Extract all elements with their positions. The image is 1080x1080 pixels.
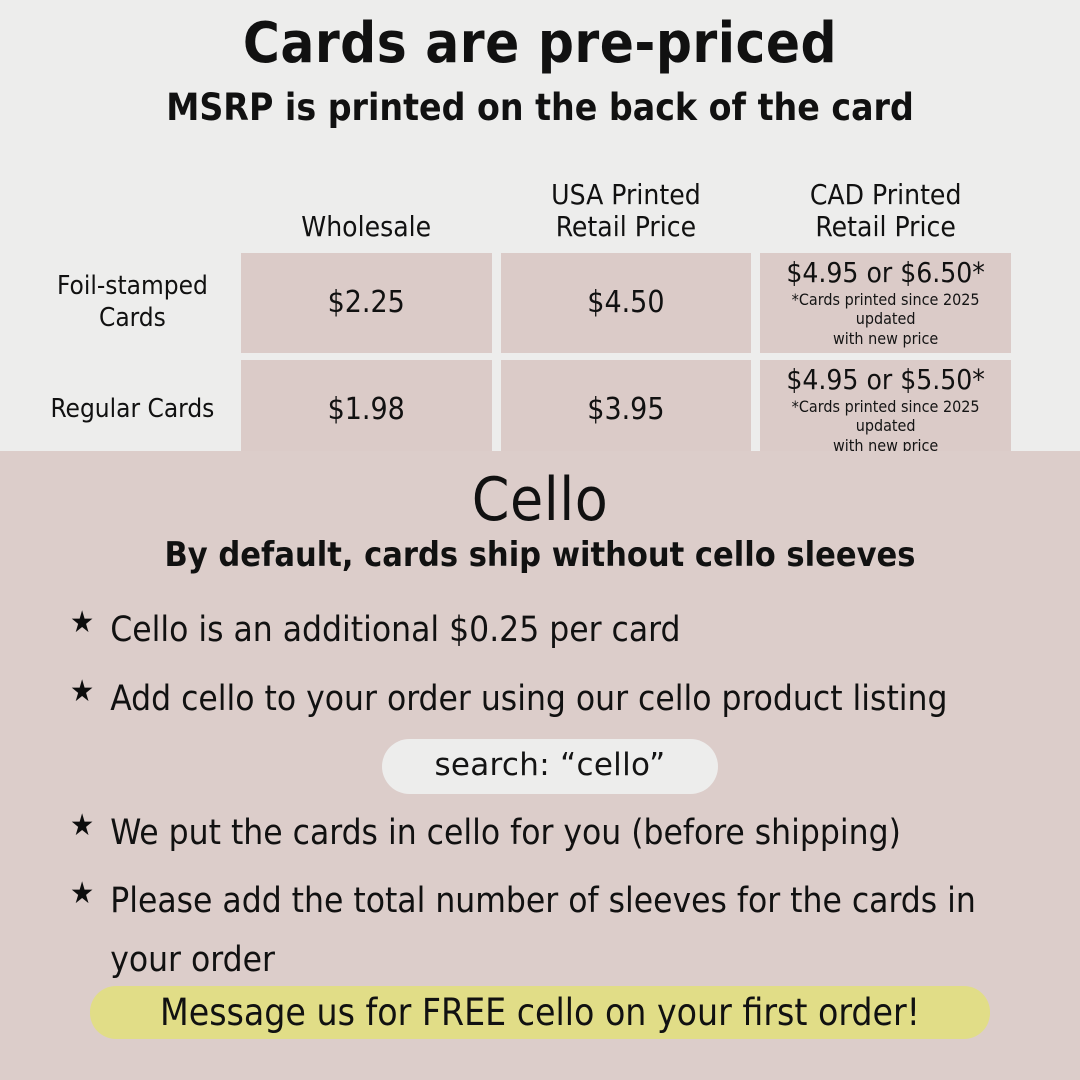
- search-pill-wrapper: search: “cello”: [70, 739, 1030, 794]
- pricing-table-body: Foil-stamped Cards $2.25 $4.50 $4.95 or …: [33, 253, 1011, 460]
- cell-regular-cad-note-line1: *Cards printed since 2025 updated: [766, 398, 1005, 435]
- pricing-table-wrapper: Wholesale USA Printed Retail Price CAD P…: [24, 165, 1020, 467]
- cell-foil-usa-retail: $4.50: [501, 253, 752, 353]
- pricing-section: Cards are pre-priced MSRP is printed on …: [0, 0, 1080, 451]
- cell-regular-wholesale-value: $1.98: [247, 393, 486, 426]
- column-header-usa-line2: Retail Price: [556, 210, 696, 243]
- star-icon: ★: [70, 872, 94, 913]
- cello-title: Cello: [0, 467, 1080, 534]
- column-header-wholesale: Wholesale: [241, 172, 492, 246]
- row-label-foil-line2: Cards: [99, 303, 166, 333]
- cell-foil-cad-note-line1: *Cards printed since 2025 updated: [766, 291, 1005, 328]
- pricing-table: Wholesale USA Printed Retail Price CAD P…: [24, 165, 1020, 467]
- cello-section: Cello By default, cards ship without cel…: [0, 451, 1080, 1080]
- table-header-row: Wholesale USA Printed Retail Price CAD P…: [33, 172, 1011, 246]
- list-item: ★ Please add the total number of sleeves…: [70, 872, 1030, 990]
- pricing-table-head: Wholesale USA Printed Retail Price CAD P…: [33, 172, 1011, 246]
- bullet-text-add-sleeve-total: Please add the total number of sleeves f…: [110, 872, 1030, 990]
- pricing-title: Cards are pre-priced: [0, 12, 1080, 77]
- row-label-foil-stamped: Foil-stamped Cards: [33, 253, 232, 353]
- poster-root: Cards are pre-priced MSRP is printed on …: [0, 0, 1080, 1080]
- column-header-blank: [33, 172, 232, 246]
- row-label-regular-line1: Regular Cards: [50, 394, 214, 424]
- cell-foil-wholesale: $2.25: [241, 253, 492, 353]
- message-us-cta-button[interactable]: Message us for FREE cello on your first …: [90, 986, 990, 1039]
- cell-regular-wholesale: $1.98: [241, 360, 492, 460]
- cta-wrapper: Message us for FREE cello on your first …: [0, 986, 1080, 1039]
- cell-regular-cad-value: $4.95 or $5.50*: [766, 364, 1005, 396]
- cell-regular-cad-retail: $4.95 or $5.50* *Cards printed since 202…: [760, 360, 1011, 460]
- row-label-regular: Regular Cards: [33, 360, 232, 460]
- column-header-cad-retail: CAD Printed Retail Price: [760, 172, 1011, 246]
- list-item: ★ Add cello to your order using our cell…: [70, 670, 1030, 729]
- table-row: Regular Cards $1.98 $3.95 $4.95 or $5.50…: [33, 360, 1011, 460]
- bullet-text-we-put-cards-in-cello: We put the cards in cello for you (befor…: [110, 804, 901, 863]
- star-icon: ★: [70, 670, 94, 711]
- cell-regular-usa-retail: $3.95: [501, 360, 752, 460]
- column-header-usa-line1: USA Printed: [551, 178, 701, 211]
- list-item: ★ We put the cards in cello for you (bef…: [70, 804, 1030, 863]
- column-header-usa-retail: USA Printed Retail Price: [501, 172, 752, 246]
- bullet-text-add-cello-listing: Add cello to your order using our cello …: [110, 670, 947, 729]
- column-header-cad-line2: Retail Price: [815, 210, 955, 243]
- cell-foil-cad-note-line2: with new price: [766, 330, 1005, 349]
- row-label-foil-line1: Foil-stamped: [57, 271, 208, 301]
- cello-bullet-list: ★ Cello is an additional $0.25 per card …: [70, 601, 1030, 1000]
- star-icon: ★: [70, 804, 94, 845]
- cell-regular-usa-value: $3.95: [507, 393, 746, 426]
- cello-subtitle: By default, cards ship without cello sle…: [0, 535, 1080, 576]
- list-item: ★ Cello is an additional $0.25 per card: [70, 601, 1030, 660]
- cell-foil-cad-value: $4.95 or $6.50*: [766, 257, 1005, 289]
- bullet-text-cello-price: Cello is an additional $0.25 per card: [110, 601, 680, 660]
- pricing-subtitle: MSRP is printed on the back of the card: [0, 86, 1080, 130]
- cell-foil-usa-value: $4.50: [507, 286, 746, 319]
- cell-foil-cad-retail: $4.95 or $6.50* *Cards printed since 202…: [760, 253, 1011, 353]
- column-header-cad-line1: CAD Printed: [810, 178, 962, 211]
- cell-foil-wholesale-value: $2.25: [247, 286, 486, 319]
- table-row: Foil-stamped Cards $2.25 $4.50 $4.95 or …: [33, 253, 1011, 353]
- star-icon: ★: [70, 601, 94, 642]
- column-header-wholesale-label: Wholesale: [301, 210, 431, 243]
- search-hint-pill[interactable]: search: “cello”: [382, 739, 717, 794]
